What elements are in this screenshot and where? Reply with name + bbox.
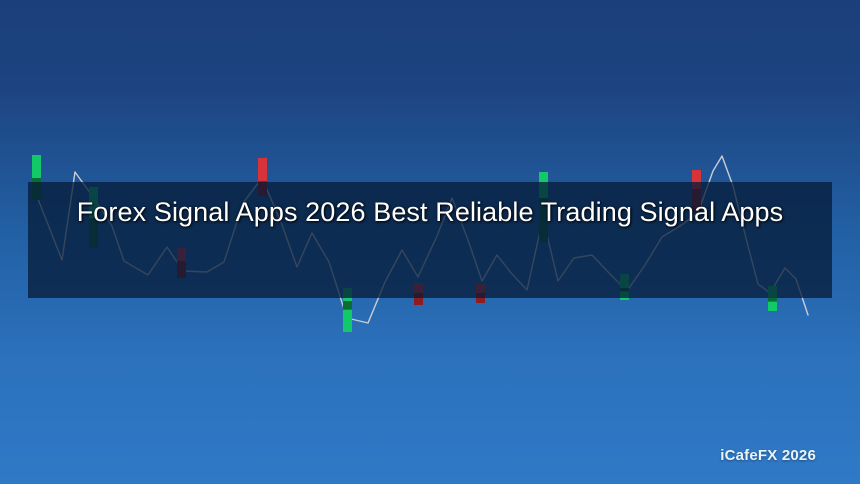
watermark-label: iCafeFX 2026 [720, 447, 816, 464]
candlestick-4-upper [258, 158, 267, 181]
page-title: Forex Signal Apps 2026 Best Reliable Tra… [48, 192, 812, 232]
candlestick-1-upper [32, 155, 41, 178]
forex-banner-image: Forex Signal Apps 2026 Best Reliable Tra… [0, 0, 860, 484]
candlestick-11-lower-bright [768, 302, 777, 311]
candlestick-5-lower-bright [343, 310, 352, 332]
